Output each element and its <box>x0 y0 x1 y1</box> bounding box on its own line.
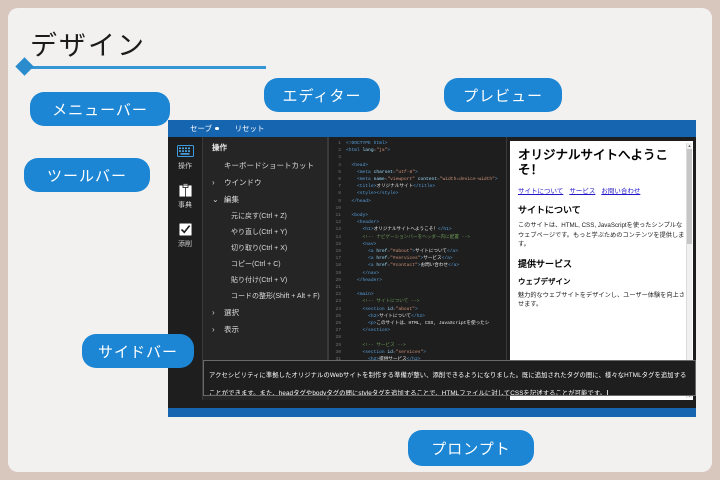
code-token <box>346 263 368 268</box>
code-token: <!DOCTYPE html> <box>346 141 387 146</box>
toolbar-item-review[interactable]: 添削 <box>168 221 202 249</box>
code-token <box>346 321 368 326</box>
line-number: 17 <box>329 255 346 262</box>
preview-body: サイトについてこのサイトは、HTML, CSS, JavaScriptを使ったシ… <box>518 203 685 310</box>
line-number: 4 <box>329 162 346 169</box>
sidebar-item-label: ウインドウ <box>224 177 262 188</box>
code-line: 23 <!-- サイトについて --> <box>329 298 506 305</box>
code-line-content: <h2>サイトについて</h2> <box>346 313 425 320</box>
code-token: "services" <box>396 350 424 355</box>
toolbar-item-review-label: 添削 <box>178 239 192 249</box>
code-token: <!-- ナビゲーションバーをヘッダー内に配置 --> <box>363 235 470 240</box>
code-token: > <box>423 350 426 355</box>
callout-preview-label: プレビュー <box>463 85 543 106</box>
code-token <box>346 227 363 232</box>
sidebar-item-label: 選択 <box>224 307 239 318</box>
code-line: 12 <header> <box>329 219 506 226</box>
callout-toolbar-label: ツールバー <box>47 165 127 186</box>
sidebar-item[interactable]: 元に戻す(Ctrl + Z) <box>203 208 327 224</box>
slide-canvas: デザイン セーブ リセット <box>8 8 712 472</box>
code-line-content: <!-- ナビゲーションバーをヘッダー内に配置 --> <box>346 234 470 241</box>
code-line: 14 <!-- ナビゲーションバーをヘッダー内に配置 --> <box>329 234 506 241</box>
code-line-content: <head> <box>346 162 368 169</box>
code-token <box>346 271 363 276</box>
code-line-content: <title>オリジナルサイト</title> <box>346 183 435 190</box>
chevron-down-icon: ⌄ <box>212 196 219 204</box>
checklist-icon <box>176 221 195 237</box>
code-token <box>346 350 363 355</box>
sidebar-item-list: キーボードショートカット›ウインドウ⌄編集元に戻す(Ctrl + Z)やり直し(… <box>203 157 327 338</box>
code-token: <!-- サービス --> <box>363 343 406 348</box>
toolbar-item-dictionary[interactable]: 事典 <box>168 182 202 210</box>
sidebar-item-label: キーボードショートカット <box>224 160 314 171</box>
code-token <box>346 314 368 319</box>
sidebar-item[interactable]: 貼り付け(Ctrl + V) <box>203 272 327 288</box>
status-bar <box>168 408 696 417</box>
code-token: <h2> <box>368 314 379 319</box>
code-line-content: <body> <box>346 212 368 219</box>
sidebar-item[interactable]: コードの整形(Shift + Alt + F) <box>203 288 327 304</box>
line-number: 30 <box>329 349 346 356</box>
sidebar-item[interactable]: 切り取り(Ctrl + X) <box>203 240 327 256</box>
preview-nav-link[interactable]: お問い合わせ <box>601 185 640 195</box>
code-token: サイトについて <box>379 314 411 319</box>
code-token: > <box>415 307 418 312</box>
line-number: 25 <box>329 313 346 320</box>
code-token <box>346 170 357 175</box>
code-token <box>346 249 368 254</box>
code-line: 27 </section> <box>329 327 506 334</box>
code-line-content: <!DOCTYPE html> <box>346 140 387 147</box>
code-line: 22 <main> <box>329 291 506 298</box>
code-token: <body> <box>352 213 369 218</box>
code-line: 21 <box>329 284 506 291</box>
preview-heading: ウェブデザイン <box>518 276 685 287</box>
sidebar-item-label: 編集 <box>224 194 239 205</box>
code-token <box>346 242 363 247</box>
line-number: 29 <box>329 342 346 349</box>
line-number: 26 <box>329 320 346 327</box>
code-line-content: </section> <box>346 327 390 334</box>
code-token: href <box>376 263 387 268</box>
code-line: 18 <a href="#contact">お問い合わせ</a> <box>329 262 506 269</box>
code-line: 1<!DOCTYPE html> <box>329 140 506 147</box>
sidebar-item[interactable]: キーボードショートカット <box>203 157 327 174</box>
code-line: 8 <style></style> <box>329 190 506 197</box>
line-number: 27 <box>329 327 346 334</box>
sidebar-item-label: やり直し(Ctrl + Y) <box>231 227 287 237</box>
line-number: 6 <box>329 176 346 183</box>
callout-menubar: メニューバー <box>30 92 170 126</box>
sidebar-item[interactable]: ›表示 <box>203 321 327 338</box>
sidebar-item[interactable]: ›ウインドウ <box>203 174 327 191</box>
code-line-content: <a href="#services">サービス</a> <box>346 255 453 262</box>
line-number: 11 <box>329 212 346 219</box>
chevron-right-icon: › <box>212 309 219 317</box>
code-line-content: <a href="#about">サイトについて</a> <box>346 248 458 255</box>
code-token: <header> <box>357 220 379 225</box>
code-line: 7 <title>オリジナルサイト</title> <box>329 183 506 190</box>
code-line-content: <header> <box>346 219 379 226</box>
code-token: </section> <box>363 328 391 333</box>
code-token: "viewport" <box>387 177 415 182</box>
line-number: 16 <box>329 248 346 255</box>
title-underline <box>30 66 266 69</box>
code-token: <title> <box>357 184 376 189</box>
sidebar-item-label: コードの整形(Shift + Alt + F) <box>231 291 320 301</box>
code-line-content: <nav> <box>346 241 376 248</box>
page-title: デザイン <box>30 24 146 63</box>
code-token: オリジナルサイト <box>376 184 413 189</box>
code-token <box>346 328 363 333</box>
book-icon <box>176 182 195 198</box>
line-number: 7 <box>329 183 346 190</box>
code-token: <main> <box>357 292 374 297</box>
code-token: </nav> <box>363 271 380 276</box>
preview-heading: 提供サービス <box>518 257 685 270</box>
code-token: <!-- サイトについて --> <box>363 299 420 304</box>
code-line-content: <p>このサイトは、HTML, CSS, JavaScriptを使ったシ <box>346 320 489 327</box>
callout-editor: エディター <box>264 78 380 112</box>
code-line: 25 <h2>サイトについて</h2> <box>329 313 506 320</box>
code-line: 9 </head> <box>329 198 506 205</box>
code-line: 19 </nav> <box>329 270 506 277</box>
chevron-right-icon: › <box>212 179 219 187</box>
code-line-content: </header> <box>346 277 382 284</box>
line-number: 12 <box>329 219 346 226</box>
code-line: 3 <box>329 154 506 161</box>
callout-sidebar-label: サイドバー <box>98 341 178 362</box>
code-token <box>346 278 357 283</box>
preview-scrollbar-thumb[interactable] <box>687 149 692 244</box>
callout-toolbar: ツールバー <box>24 158 150 192</box>
line-number: 19 <box>329 270 346 277</box>
callout-preview: プレビュー <box>444 78 562 112</box>
line-number: 2 <box>329 147 346 154</box>
code-line: 30 <section id="services"> <box>329 349 506 356</box>
sidebar-item-label: 貼り付け(Ctrl + V) <box>231 275 287 285</box>
code-token: <h1> <box>363 227 374 232</box>
code-line-content: <meta charset="utf-8"> <box>346 169 418 176</box>
line-number: 23 <box>329 298 346 305</box>
line-number: 1 <box>329 140 346 147</box>
code-token: charset <box>374 170 393 175</box>
code-token: "width=device-width" <box>440 177 495 182</box>
code-line: 6 <meta name="viewport" content="width=d… <box>329 176 506 183</box>
line-number: 22 <box>329 291 346 298</box>
code-token: lang <box>363 148 374 153</box>
code-token <box>346 256 368 261</box>
line-number: 5 <box>329 169 346 176</box>
line-number: 8 <box>329 190 346 197</box>
code-token: </a> <box>442 256 453 261</box>
code-token: > <box>495 177 498 182</box>
callout-menubar-label: メニューバー <box>52 99 148 120</box>
line-number: 18 <box>329 262 346 269</box>
line-number: 9 <box>329 198 346 205</box>
prompt-text: アクセシビリティに準拠したオリジナルのWebサイトを制作する準備が整い、添削でき… <box>209 372 686 396</box>
code-line-content: <h1>オリジナルサイトへようこそ！</h1> <box>346 226 452 233</box>
sidebar-item-label: 元に戻す(Ctrl + Z) <box>231 211 287 221</box>
menu-item-reset-label: リセット <box>235 123 265 134</box>
code-line-content: </nav> <box>346 270 379 277</box>
code-line: 2<html lang="ja"> <box>329 147 506 154</box>
code-token <box>346 177 357 182</box>
sidebar-item[interactable]: ⌄編集 <box>203 191 327 208</box>
code-line-content: </head> <box>346 198 371 205</box>
sidebar-item-label: 切り取り(Ctrl + X) <box>231 243 287 253</box>
code-token: </h1> <box>438 227 452 232</box>
line-number: 3 <box>329 154 346 161</box>
code-token: </title> <box>413 184 435 189</box>
code-token: "utf-8" <box>396 170 415 175</box>
code-token: href <box>376 249 387 254</box>
code-line: 17 <a href="#services">サービス</a> <box>329 255 506 262</box>
menu-item-save[interactable]: セーブ <box>190 123 219 134</box>
code-line: 26 <p>このサイトは、HTML, CSS, JavaScriptを使ったシ <box>329 320 506 327</box>
code-token <box>346 220 357 225</box>
code-token <box>346 307 363 312</box>
code-token: <head> <box>352 163 369 168</box>
code-token: オリジナルサイトへようこそ！ <box>374 227 438 232</box>
code-line: 24 <section id="about"> <box>329 306 506 313</box>
line-number: 21 <box>329 284 346 291</box>
code-token: "about" <box>396 307 415 312</box>
preview-heading-1: オリジナルサイトへようこそ！ <box>518 148 685 178</box>
line-number: 24 <box>329 306 346 313</box>
toolbar-item-dictionary-label: 事典 <box>178 200 192 210</box>
line-number: 20 <box>329 277 346 284</box>
code-token <box>346 343 363 348</box>
sidebar-item[interactable]: コピー(Ctrl + C) <box>203 256 327 272</box>
callout-sidebar: サイドバー <box>82 334 194 368</box>
code-line: 20 </header> <box>329 277 506 284</box>
text-caret <box>607 390 608 396</box>
code-token: "#about" <box>390 249 412 254</box>
sidebar-item[interactable]: やり直し(Ctrl + Y) <box>203 224 327 240</box>
line-number: 28 <box>329 334 346 341</box>
preview-nav-link[interactable]: サイトについて <box>518 185 563 195</box>
code-token <box>346 299 363 304</box>
callout-prompt-label: プロンプト <box>431 438 511 459</box>
menu-item-save-label: セーブ <box>190 123 212 134</box>
preview-paragraph: このサイトは、HTML, CSS, JavaScriptを使ったシンプルなウェブ… <box>518 221 685 250</box>
code-token: サイトについて <box>415 249 447 254</box>
code-token: > <box>415 170 418 175</box>
preview-paragraph: 魅力的なウェブサイトをデザインし、ユーザー体験を向上させます。 <box>518 291 685 310</box>
code-line-content: <section id="about"> <box>346 306 418 313</box>
code-line: 13 <h1>オリジナルサイトへようこそ！</h1> <box>329 226 506 233</box>
prompt-input[interactable]: アクセシビリティに準拠したオリジナルのWebサイトを制作する準備が整い、添削でき… <box>203 360 696 396</box>
code-token: お問い合わせ <box>420 263 448 268</box>
chevron-right-icon: › <box>212 326 219 334</box>
code-line: 29 <!-- サービス --> <box>329 342 506 349</box>
code-token: <style></style> <box>357 191 398 196</box>
code-line: 10 <box>329 205 506 212</box>
code-line: 4 <head> <box>329 162 506 169</box>
code-line-content: <meta name="viewport" content="width=dev… <box>346 176 498 183</box>
code-token: href <box>376 256 387 261</box>
code-line-content: <!-- サービス --> <box>346 342 406 349</box>
code-token <box>346 235 363 240</box>
code-line-content: <style></style> <box>346 190 398 197</box>
code-token: "#services" <box>390 256 420 261</box>
line-number: 13 <box>329 226 346 233</box>
line-number: 10 <box>329 205 346 212</box>
code-token: このサイトは、HTML, CSS, JavaScriptを使ったシ <box>376 321 489 326</box>
code-line: 16 <a href="#about">サイトについて</a> <box>329 248 506 255</box>
code-token <box>346 191 357 196</box>
code-line-content: <!-- サイトについて --> <box>346 298 419 305</box>
code-token: "ja" <box>376 148 387 153</box>
code-line-content: <html lang="ja"> <box>346 147 390 154</box>
code-token: <meta <box>357 170 374 175</box>
code-token: <nav> <box>363 242 377 247</box>
code-line: 5 <meta charset="utf-8"> <box>329 169 506 176</box>
code-token: name <box>374 177 385 182</box>
scroll-up-arrow-icon[interactable]: ▲ <box>687 143 692 148</box>
line-number: 15 <box>329 241 346 248</box>
sidebar-item-label: コピー(Ctrl + C) <box>231 259 281 269</box>
code-token: </head> <box>352 199 371 204</box>
code-token: "#contact" <box>390 263 418 268</box>
sidebar-item-label: 表示 <box>224 324 239 335</box>
code-token: <html <box>346 148 363 153</box>
code-token: <section <box>363 307 388 312</box>
menu-item-reset[interactable]: リセット <box>235 123 265 134</box>
callout-prompt: プロンプト <box>408 430 534 466</box>
code-line: 28 <box>329 334 506 341</box>
code-token: </a> <box>447 249 458 254</box>
callout-editor-label: エディター <box>283 85 362 106</box>
menu-bar[interactable]: セーブ リセット <box>168 120 696 137</box>
code-token <box>346 184 357 189</box>
preview-nav-link[interactable]: サービス <box>569 185 595 195</box>
code-line: 11 <body> <box>329 212 506 219</box>
sidebar-title: 操作 <box>203 142 327 157</box>
code-token: サービス <box>423 256 441 261</box>
keyboard-icon <box>176 143 195 159</box>
preview-heading: サイトについて <box>518 203 685 216</box>
code-token: > <box>387 148 390 153</box>
toolbar-item-operations[interactable]: 操作 <box>168 143 202 171</box>
code-line-content: <section id="services"> <box>346 349 426 356</box>
unsaved-dot-icon <box>215 127 219 131</box>
code-token: <meta <box>357 177 374 182</box>
code-token <box>346 292 357 297</box>
code-token: </a> <box>448 263 459 268</box>
line-number: 14 <box>329 234 346 241</box>
code-line-content: <a href="#contact">お問い合わせ</a> <box>346 262 459 269</box>
toolbar-item-operations-label: 操作 <box>178 161 192 171</box>
code-line: 15 <nav> <box>329 241 506 248</box>
code-line-content: <main> <box>346 291 374 298</box>
sidebar-item[interactable]: ›選択 <box>203 304 327 321</box>
preview-nav: サイトについてサービスお問い合わせ <box>518 185 685 195</box>
code-token: content <box>415 177 437 182</box>
code-token: <section <box>363 350 388 355</box>
code-token: </h2> <box>411 314 425 319</box>
code-token: </header> <box>357 278 382 283</box>
